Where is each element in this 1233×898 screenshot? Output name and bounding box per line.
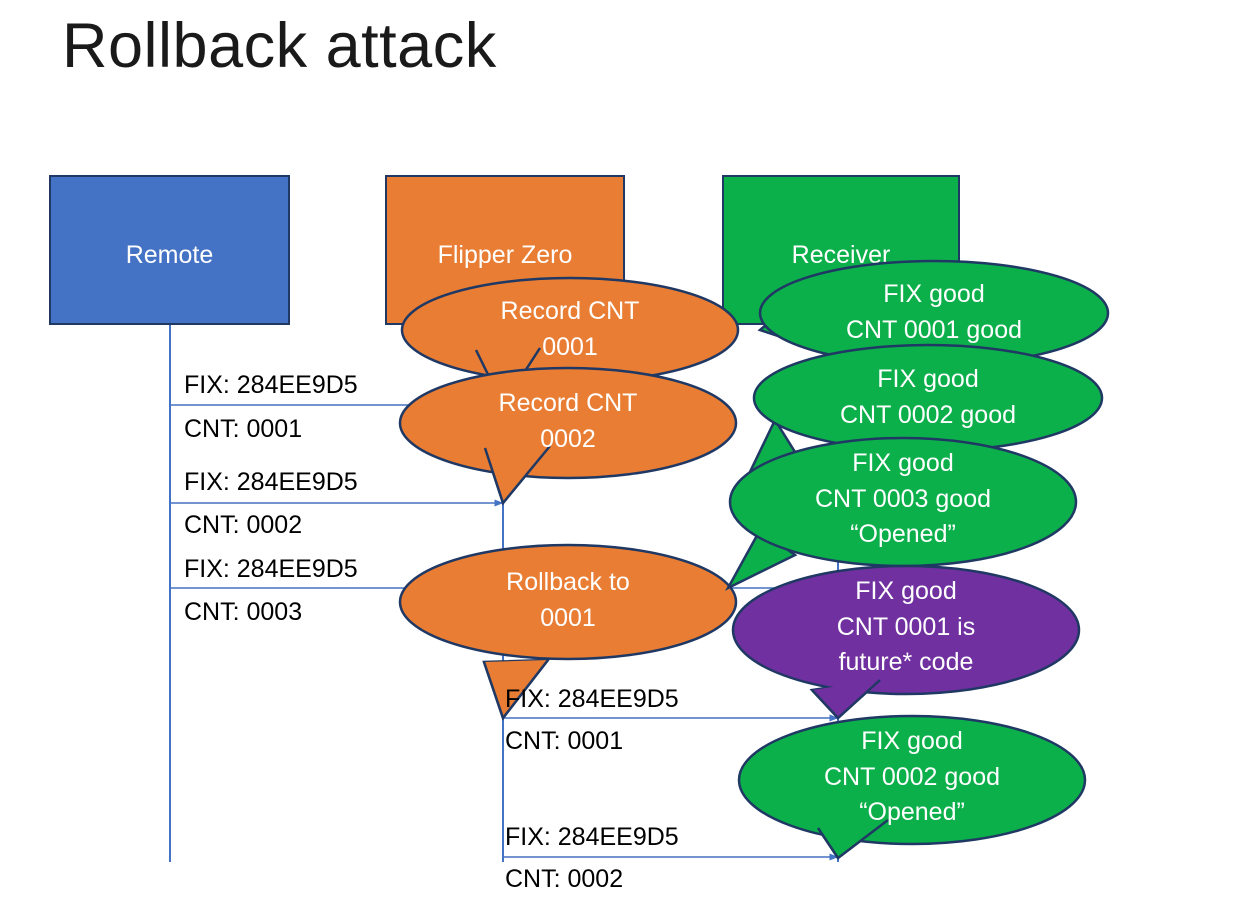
slide-canvas: Rollback attack Remote Flipper Zero Rece…	[0, 0, 1233, 898]
message-label-m2-fix: FIX: 284EE9D5	[184, 468, 358, 497]
message-label-m4-cnt: CNT: 0001	[505, 727, 623, 756]
message-label-m4-fix: FIX: 284EE9D5	[505, 685, 679, 714]
message-label-m3-cnt: CNT: 0003	[184, 598, 302, 627]
message-label-m1-fix: FIX: 284EE9D5	[184, 371, 358, 400]
message-label-m1-cnt: CNT: 0001	[184, 415, 302, 444]
callout-shape-receiver-cnt-0002-opened[interactable]	[739, 716, 1085, 858]
callout-shapes-layer	[0, 0, 1233, 898]
message-label-m5-fix: FIX: 284EE9D5	[505, 823, 679, 852]
message-label-m2-cnt: CNT: 0002	[184, 511, 302, 540]
message-label-m3-fix: FIX: 284EE9D5	[184, 555, 358, 584]
callout-shape-flipper-record-0002[interactable]	[400, 368, 736, 503]
callout-shape-receiver-cnt-0001-future[interactable]	[733, 566, 1079, 718]
message-label-m5-cnt: CNT: 0002	[505, 865, 623, 894]
